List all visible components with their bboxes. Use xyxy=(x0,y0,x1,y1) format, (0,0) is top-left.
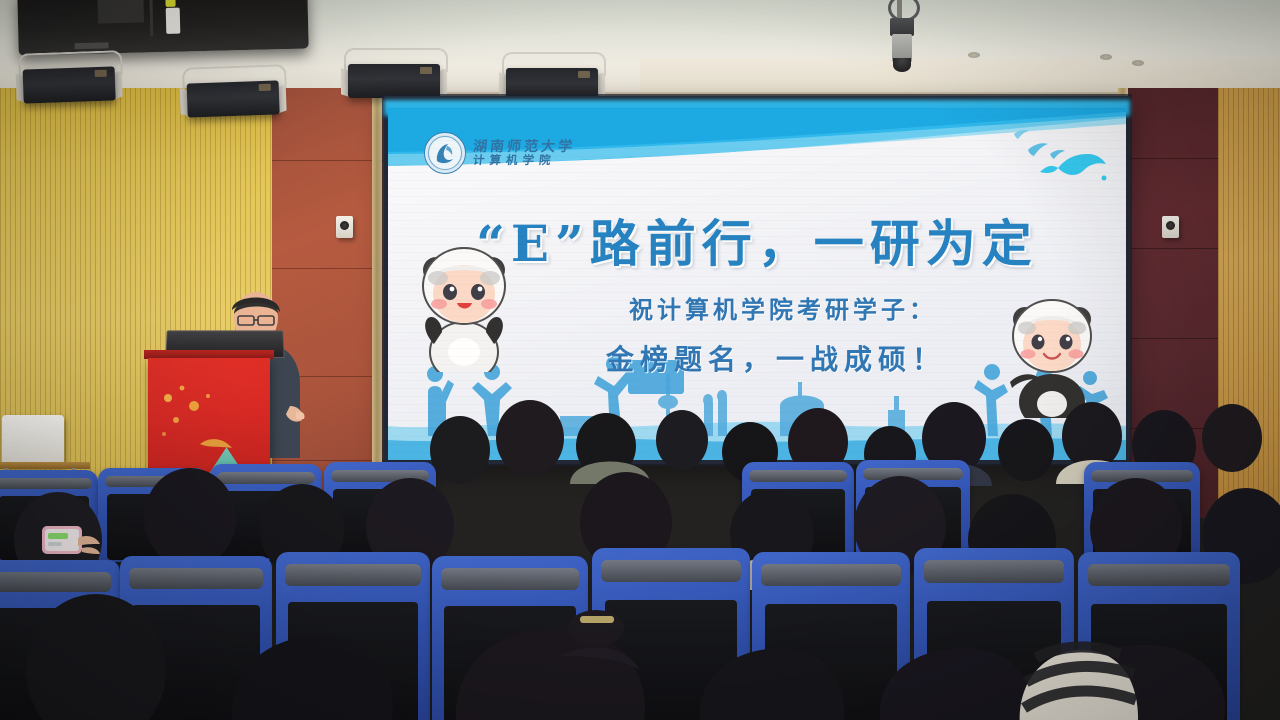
audience-striped-coat xyxy=(1000,576,1160,720)
ceiling-mounted-tv xyxy=(17,0,308,56)
stage-light-icon xyxy=(22,50,116,103)
ptz-dome-camera-icon xyxy=(888,0,916,78)
lecture-hall-photo: 湖南师范大学 计算机学院 xyxy=(0,0,1280,720)
wall-mounted-speaker-icon xyxy=(1162,216,1179,238)
stage-light-icon xyxy=(348,48,440,98)
ceiling-downlight-icon xyxy=(1100,54,1112,60)
ceiling-downlight-icon xyxy=(968,52,980,58)
stage-light-icon xyxy=(506,52,598,102)
wall-mounted-sensor-icon xyxy=(336,216,353,238)
stage-light-icon xyxy=(186,64,280,117)
ceiling-downlight-icon xyxy=(1132,60,1144,66)
